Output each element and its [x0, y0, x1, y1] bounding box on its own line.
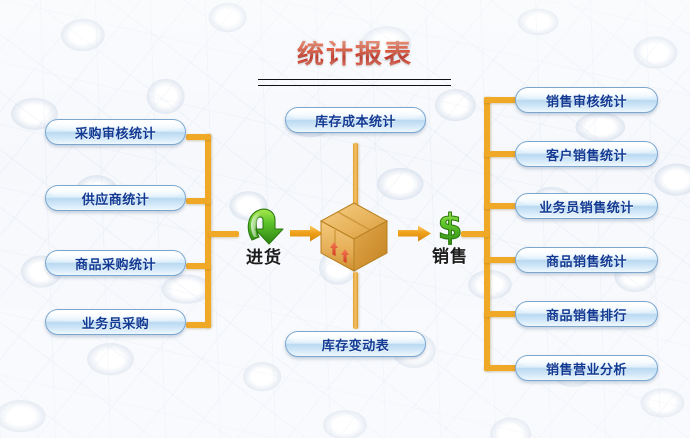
left-bracket-branch-1: [186, 134, 211, 140]
right-bracket-branch-2: [484, 151, 517, 157]
button-业务员销售统计[interactable]: 业务员销售统计: [515, 193, 658, 219]
flow-node-sales-label: 销售: [420, 249, 480, 266]
button-label: 库存成本统计: [315, 111, 396, 130]
button-label: 商品销售排行: [546, 305, 627, 324]
button-label: 商品采购统计: [75, 254, 156, 273]
flow-node-purchase: 进货: [233, 206, 295, 267]
button-label: 供应商统计: [82, 189, 150, 208]
right-bracket-branch-5: [484, 311, 517, 317]
left-bracket-branch-3: [186, 263, 211, 269]
button-采购审核统计[interactable]: 采购审核统计: [45, 119, 186, 145]
button-label: 销售审核统计: [546, 91, 627, 110]
button-label: 业务员采购: [82, 313, 150, 332]
left-bracket-branch-2: [186, 198, 211, 204]
button-供应商统计[interactable]: 供应商统计: [45, 185, 186, 211]
button-销售审核统计[interactable]: 销售审核统计: [515, 87, 658, 113]
cardboard-box-icon: [318, 200, 390, 274]
green-curved-down-arrow-icon: [242, 206, 286, 246]
right-bracket-stub-from-sales: [461, 231, 489, 237]
connector-box-to-bottom-report: [353, 272, 358, 329]
button-库存成本统计[interactable]: 库存成本统计: [285, 107, 426, 133]
button-业务员采购[interactable]: 业务员采购: [45, 309, 186, 335]
button-库存变动表[interactable]: 库存变动表: [285, 331, 426, 357]
green-dollar-sign-icon: $: [430, 206, 470, 246]
button-label: 销售营业分析: [546, 359, 627, 378]
button-label: 商品销售统计: [546, 251, 627, 270]
right-bracket-branch-4: [484, 257, 517, 263]
page-title-wrapper: 统计报表: [258, 41, 452, 68]
button-销售营业分析[interactable]: 销售营业分析: [515, 355, 658, 381]
button-商品采购统计[interactable]: 商品采购统计: [45, 250, 186, 276]
title-divider: [258, 79, 451, 86]
page-title: 统计报表: [258, 41, 452, 68]
left-bracket-branch-4: [186, 322, 211, 328]
svg-text:$: $: [437, 207, 462, 246]
button-商品销售排行[interactable]: 商品销售排行: [515, 301, 658, 327]
right-bracket-branch-1: [484, 97, 517, 103]
button-label: 客户销售统计: [546, 145, 627, 164]
flow-node-stock: [318, 200, 390, 278]
button-label: 库存变动表: [322, 335, 390, 354]
flow-node-purchase-label: 进货: [233, 250, 295, 267]
right-bracket-branch-6: [484, 365, 517, 371]
button-label: 业务员销售统计: [539, 197, 634, 216]
button-label: 采购审核统计: [75, 123, 156, 142]
button-商品销售统计[interactable]: 商品销售统计: [515, 247, 658, 273]
right-bracket-branch-3: [484, 203, 517, 209]
button-客户销售统计[interactable]: 客户销售统计: [515, 141, 658, 167]
report-diagram-canvas: 统计报表 采购审核统计 供应商统计 商品采购统计 业务员采购 库存成本统计 库存…: [0, 0, 690, 438]
